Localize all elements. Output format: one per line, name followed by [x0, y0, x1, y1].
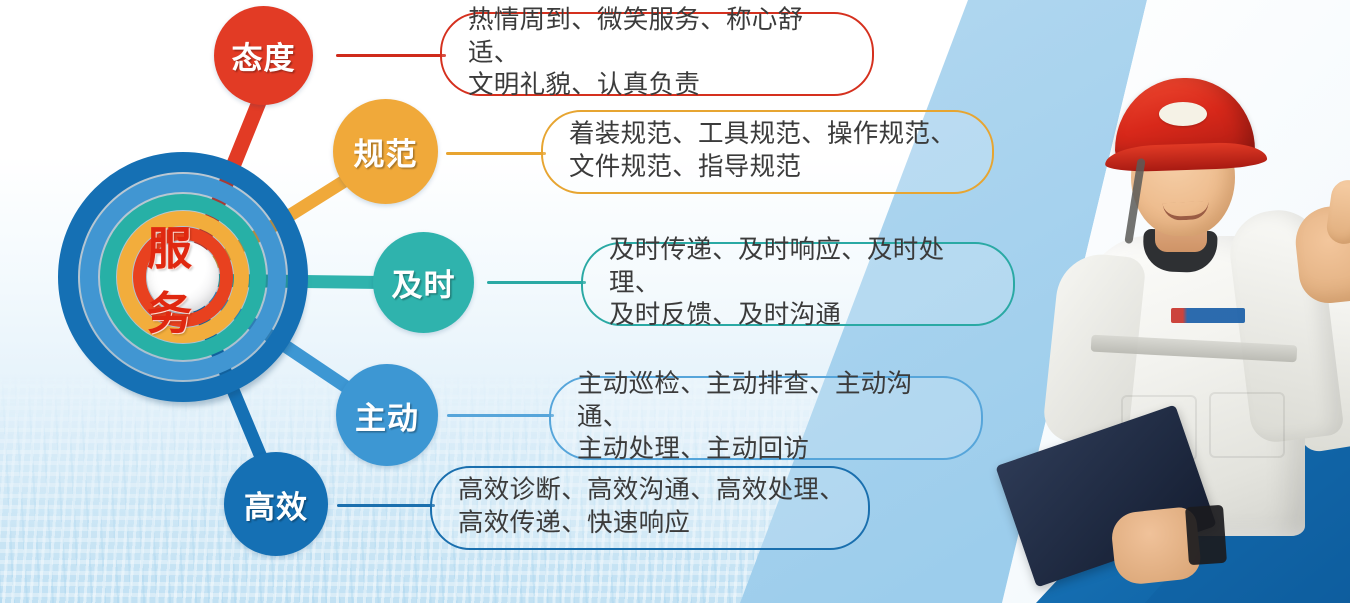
- pill-timely-text: 及时传递、及时响应、及时处理、 及时反馈、及时沟通: [609, 234, 991, 332]
- pill-standard-text: 着装规范、工具规范、操作规范、 文件规范、指导规范: [569, 118, 956, 183]
- node-attitude[interactable]: 态度: [214, 6, 313, 105]
- connector-timely: [487, 281, 586, 284]
- node-proactive[interactable]: 主动: [336, 364, 438, 466]
- node-efficient-label: 高效: [244, 482, 308, 527]
- node-timely[interactable]: 及时: [373, 232, 474, 333]
- hub-center-label: 服务: [147, 212, 219, 342]
- node-efficient[interactable]: 高效: [224, 452, 328, 556]
- connector-proactive: [447, 414, 554, 417]
- node-attitude-label: 态度: [232, 33, 296, 78]
- hub-center: 服务: [147, 241, 219, 313]
- pill-attitude-text: 热情周到、微笑服务、称心舒适、 文明礼貌、认真负责: [468, 4, 850, 102]
- pill-efficient-text: 高效诊断、高效沟通、高效处理、 高效传递、快速响应: [458, 474, 845, 539]
- pill-standard[interactable]: 着装规范、工具规范、操作规范、 文件规范、指导规范: [541, 110, 994, 194]
- node-proactive-label: 主动: [355, 393, 419, 438]
- node-standard-label: 规范: [354, 129, 418, 174]
- connector-standard: [446, 152, 546, 155]
- pill-efficient[interactable]: 高效诊断、高效沟通、高效处理、 高效传递、快速响应: [430, 466, 870, 550]
- poster-canvas: 服务 态度 热情周到、微笑服务、称心舒适、 文明礼貌、认真负责 规范 着装规范、…: [0, 0, 1350, 603]
- pill-attitude[interactable]: 热情周到、微笑服务、称心舒适、 文明礼貌、认真负责: [440, 12, 874, 96]
- connector-attitude: [336, 54, 446, 57]
- pill-proactive[interactable]: 主动巡检、主动排查、主动沟通、 主动处理、主动回访: [549, 376, 983, 460]
- node-timely-label: 及时: [392, 260, 456, 305]
- connector-efficient: [337, 504, 435, 507]
- pill-timely[interactable]: 及时传递、及时响应、及时处理、 及时反馈、及时沟通: [581, 242, 1015, 326]
- node-standard[interactable]: 规范: [333, 99, 438, 204]
- service-hub: 服务: [58, 152, 316, 410]
- pill-proactive-text: 主动巡检、主动排查、主动沟通、 主动处理、主动回访: [577, 368, 959, 466]
